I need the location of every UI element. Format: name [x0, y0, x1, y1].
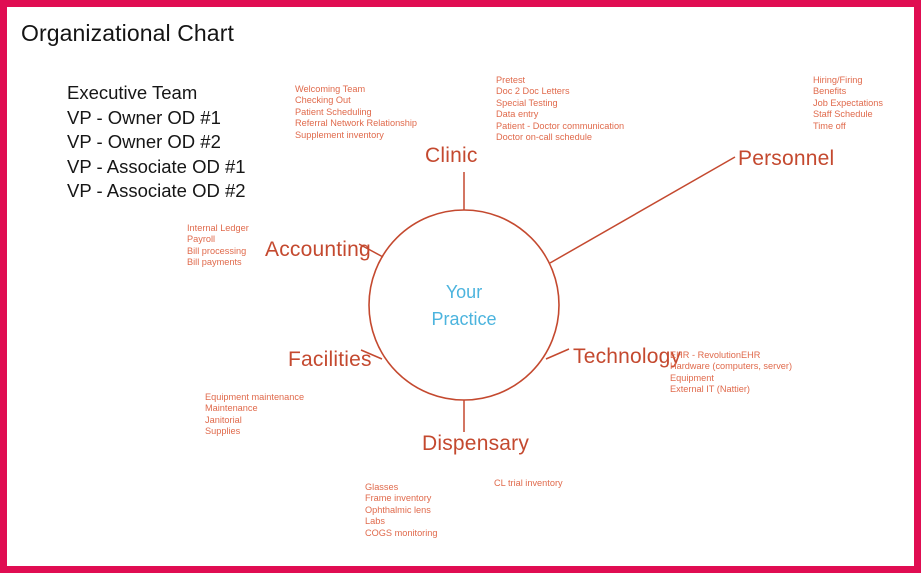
branch-label-personnel[interactable]: Personnel	[738, 147, 834, 171]
page-title: Organizational Chart	[21, 20, 234, 47]
branch-label-accounting[interactable]: Accounting	[265, 238, 371, 262]
details-facilities: Equipment maintenance Maintenance Janito…	[205, 392, 304, 438]
list-item: Payroll	[187, 234, 249, 245]
executive-member-1: VP - Owner OD #1	[67, 106, 246, 131]
branch-label-dispensary[interactable]: Dispensary	[422, 432, 529, 456]
list-item: Bill payments	[187, 257, 249, 268]
list-item: Frame inventory	[365, 493, 438, 504]
list-item: Supplies	[205, 426, 304, 437]
hub-label-line-2: Practice	[414, 306, 514, 333]
list-item: Patient Scheduling	[295, 107, 417, 118]
list-item: Hiring/Firing	[813, 75, 883, 86]
list-item: Staff Schedule	[813, 109, 883, 120]
spoke-personnel	[550, 157, 735, 263]
details-clinic-left: Welcoming Team Checking Out Patient Sche…	[295, 84, 417, 141]
list-item: Checking Out	[295, 95, 417, 106]
details-clinic-right: Pretest Doc 2 Doc Letters Special Testin…	[496, 75, 624, 143]
branch-label-facilities[interactable]: Facilities	[288, 348, 372, 372]
list-item: Ophthalmic lens	[365, 505, 438, 516]
list-item: Equipment maintenance	[205, 392, 304, 403]
executive-member-3: VP - Associate OD #1	[67, 155, 246, 180]
hub-label: Your Practice	[414, 279, 514, 333]
branch-label-clinic[interactable]: Clinic	[425, 144, 478, 168]
list-item: COGS monitoring	[365, 528, 438, 539]
list-item: Welcoming Team	[295, 84, 417, 95]
executive-team-heading: Executive Team	[67, 81, 246, 106]
list-item: Referral Network Relationship	[295, 118, 417, 129]
list-item: Special Testing	[496, 98, 624, 109]
list-item: EHR - RevolutionEHR	[670, 350, 792, 361]
list-item: Time off	[813, 121, 883, 132]
list-item: Hardware (computers, server)	[670, 361, 792, 372]
details-dispensary: Glasses Frame inventory Ophthalmic lens …	[365, 482, 438, 539]
list-item: External IT (Nattier)	[670, 384, 792, 395]
list-item: Labs	[365, 516, 438, 527]
list-item: Doctor on-call schedule	[496, 132, 624, 143]
branch-label-technology[interactable]: Technology	[573, 345, 681, 369]
list-item: Job Expectations	[813, 98, 883, 109]
list-item: Pretest	[496, 75, 624, 86]
details-dispensary-extra: CL trial inventory	[494, 478, 563, 489]
list-item: Doc 2 Doc Letters	[496, 86, 624, 97]
details-accounting: Internal Ledger Payroll Bill processing …	[187, 223, 249, 269]
list-item: Internal Ledger	[187, 223, 249, 234]
list-item: Supplement inventory	[295, 130, 417, 141]
slide-canvas: Organizational Chart Executive Team VP -…	[0, 0, 921, 573]
list-item: Bill processing	[187, 246, 249, 257]
list-item: Maintenance	[205, 403, 304, 414]
list-item: Patient - Doctor communication	[496, 121, 624, 132]
list-item: Benefits	[813, 86, 883, 97]
list-item: Janitorial	[205, 415, 304, 426]
spoke-technology	[546, 349, 569, 359]
executive-member-4: VP - Associate OD #2	[67, 179, 246, 204]
list-item: CL trial inventory	[494, 478, 563, 489]
list-item: Glasses	[365, 482, 438, 493]
diagram-area: Organizational Chart Executive Team VP -…	[7, 7, 914, 566]
details-personnel: Hiring/Firing Benefits Job Expectations …	[813, 75, 883, 132]
list-item: Equipment	[670, 373, 792, 384]
details-technology: EHR - RevolutionEHR Hardware (computers,…	[670, 350, 792, 396]
hub-label-line-1: Your	[414, 279, 514, 306]
list-item: Data entry	[496, 109, 624, 120]
executive-team-block: Executive Team VP - Owner OD #1 VP - Own…	[67, 81, 246, 204]
executive-member-2: VP - Owner OD #2	[67, 130, 246, 155]
